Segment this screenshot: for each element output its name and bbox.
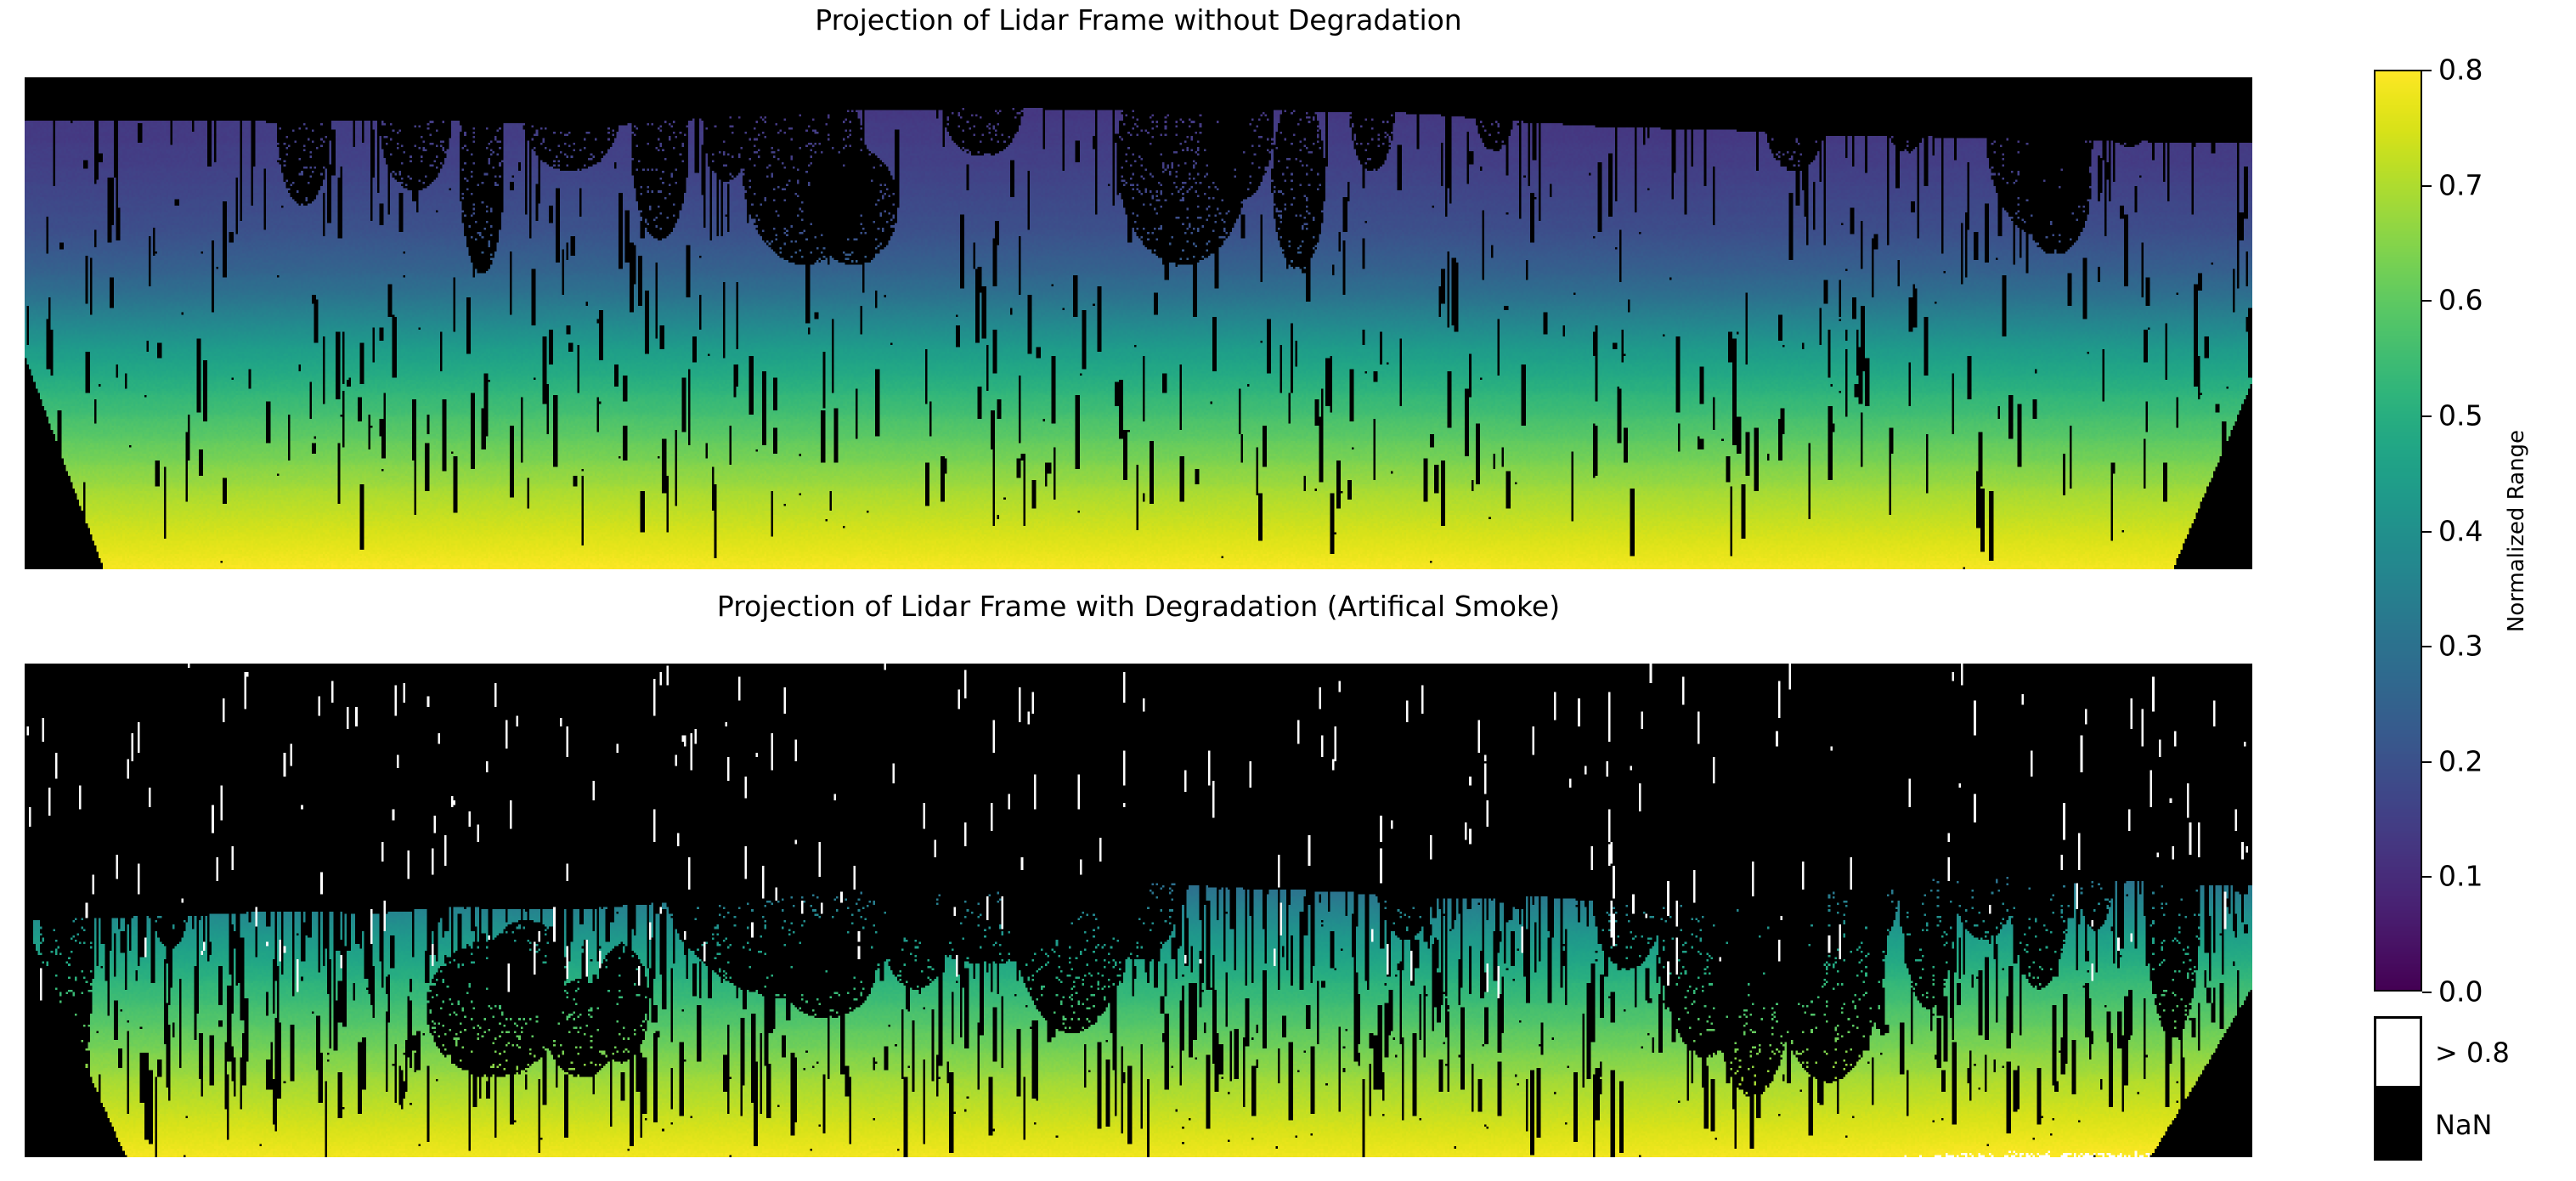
- colorbar-tick-0.6: [2422, 300, 2432, 302]
- colorbar-gradient: [2374, 70, 2422, 992]
- colorbar-ticklabel-0.7: 0.7: [2438, 171, 2483, 199]
- legend-item-over-range: > 0.8: [2374, 1016, 2569, 1088]
- colorbar-ticklabel-0.3: 0.3: [2438, 632, 2483, 660]
- heatmap-canvas-bottom: [25, 664, 2252, 1157]
- lidar-range-image-without-degradation: [25, 77, 2252, 569]
- colorbar-tick-0.0: [2422, 992, 2432, 993]
- colorbar-ticklabel-0.8: 0.8: [2438, 56, 2483, 84]
- colorbar-tick-0.5: [2422, 415, 2432, 417]
- colorbar-ticklabel-0.4: 0.4: [2438, 517, 2483, 545]
- legend-item-nan: NaN: [2374, 1088, 2569, 1161]
- colorbar: 0.00.10.20.30.40.50.60.70.8: [2374, 70, 2422, 992]
- colorbar-ticklabel-0.0: 0.0: [2438, 978, 2483, 1006]
- panel-title-bottom: Projection of Lidar Frame with Degradati…: [25, 591, 2252, 622]
- panel-title-top: Projection of Lidar Frame without Degrad…: [25, 5, 2252, 36]
- colorbar-canvas: [2375, 71, 2421, 990]
- figure-canvas: Projection of Lidar Frame without Degrad…: [0, 0, 2576, 1181]
- colorbar-tick-0.3: [2422, 646, 2432, 647]
- legend-swatch-nan: [2374, 1088, 2422, 1161]
- lidar-range-image-with-degradation: [25, 664, 2252, 1157]
- colorbar-tick-0.7: [2422, 185, 2432, 187]
- legend-label-nan: NaN: [2435, 1111, 2492, 1139]
- colorbar-tick-0.4: [2422, 531, 2432, 533]
- heatmap-canvas-top: [25, 77, 2252, 569]
- legend-swatch-over-range: [2374, 1016, 2422, 1088]
- colorbar-ticklabel-0.6: 0.6: [2438, 286, 2483, 314]
- colorbar-ticklabel-0.2: 0.2: [2438, 747, 2483, 775]
- colorbar-tick-0.2: [2422, 761, 2432, 763]
- colorbar-tick-0.8: [2422, 70, 2432, 71]
- legend-label-over-range: > 0.8: [2435, 1039, 2510, 1066]
- colorbar-ticklabel-0.1: 0.1: [2438, 862, 2483, 890]
- colorbar-axis-label: Normalized Range: [2505, 430, 2528, 632]
- colorbar-tick-0.1: [2422, 876, 2432, 878]
- colorbar-ticklabel-0.5: 0.5: [2438, 401, 2483, 429]
